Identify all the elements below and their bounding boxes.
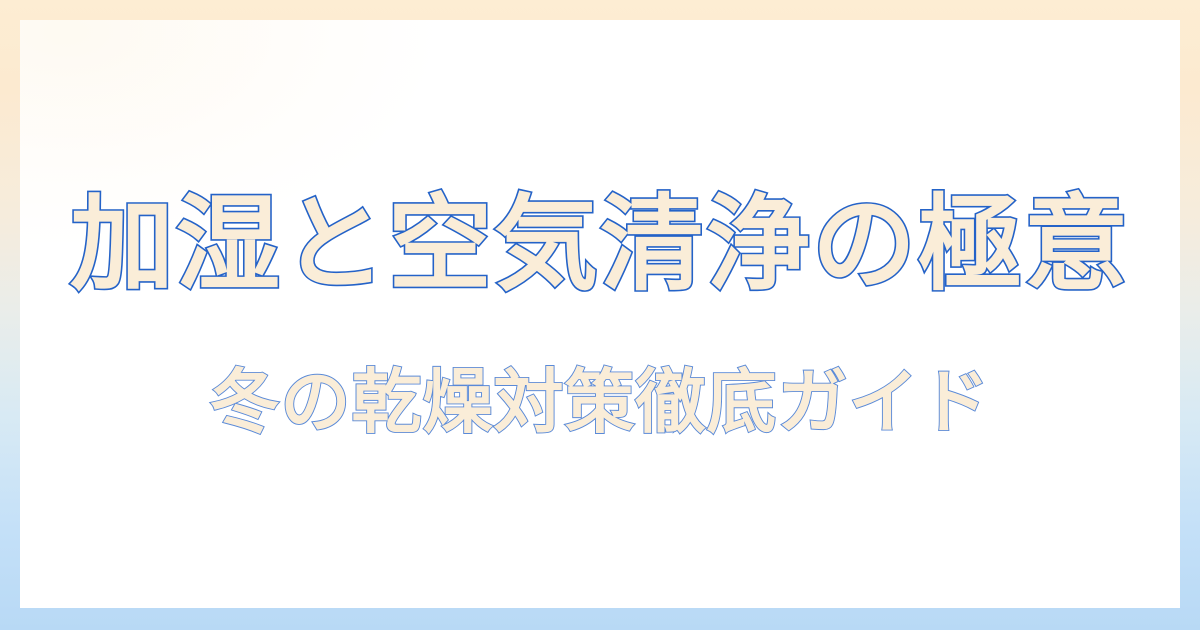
white-content-card: 加湿と空気清浄の極意 冬の乾燥対策徹底ガイド [20,20,1180,608]
page-title: 加湿と空気清浄の極意 [70,186,1130,302]
thumbnail-canvas: 加湿と空気清浄の極意 冬の乾燥対策徹底ガイド [0,0,1200,630]
hero-text-block: 加湿と空気清浄の極意 冬の乾燥対策徹底ガイド [20,20,1180,608]
page-subtitle: 冬の乾燥対策徹底ガイド [210,362,991,443]
